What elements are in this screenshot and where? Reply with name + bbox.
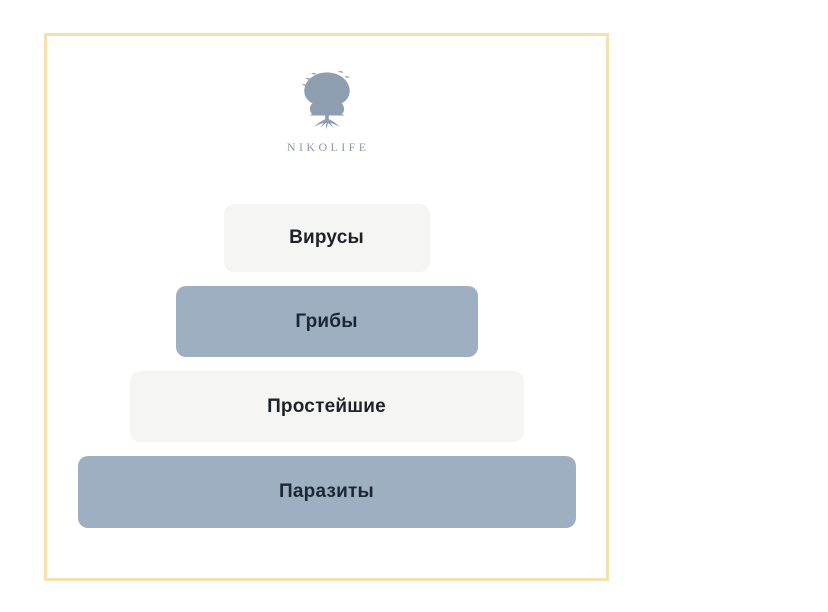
pyramid-tier-4: Паразиты (78, 456, 576, 528)
tree-icon (281, 66, 373, 134)
brand-name: NIKOLIFE (284, 140, 370, 155)
pyramid-tier-3-label: Простейшие (267, 396, 386, 418)
screenshot-canvas: NIKOLIFE Вирусы Грибы Простейшие Паразит… (0, 0, 828, 612)
content-card: NIKOLIFE Вирусы Грибы Простейшие Паразит… (44, 33, 609, 581)
brand-logo: NIKOLIFE (47, 66, 606, 155)
pyramid-tier-2: Грибы (176, 286, 478, 357)
pyramid-tier-4-label: Паразиты (279, 481, 374, 503)
pyramid-tier-2-label: Грибы (295, 311, 357, 333)
pyramid-tier-1: Вирусы (224, 204, 430, 272)
pyramid-tier-3: Простейшие (130, 371, 524, 442)
pyramid-diagram: Вирусы Грибы Простейшие Паразиты (47, 204, 606, 528)
pyramid-tier-1-label: Вирусы (289, 227, 364, 249)
